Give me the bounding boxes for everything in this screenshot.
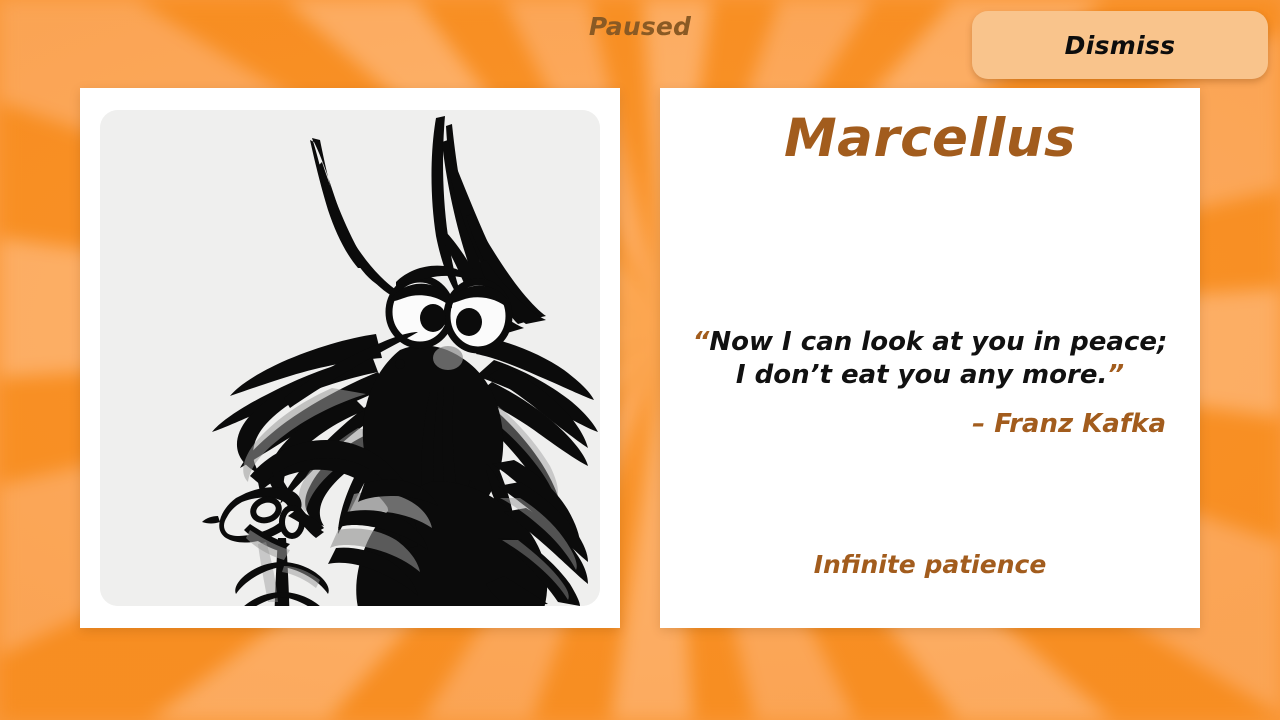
quote-text: “Now I can look at you in peace; I don’t… xyxy=(684,326,1176,391)
close-quote-mark: ” xyxy=(1107,360,1124,390)
quote-line-1: Now I can look at you in peace; xyxy=(709,327,1167,357)
quote-block: “Now I can look at you in peace; I don’t… xyxy=(684,326,1176,439)
creature-trait-label: Infinite patience xyxy=(660,550,1200,579)
quote-attribution: – Franz Kafka xyxy=(684,409,1176,439)
creature-artwork xyxy=(100,110,600,606)
open-quote-mark: “ xyxy=(693,327,710,357)
ink-brush-cat-icon xyxy=(100,110,600,606)
creature-info-card: Marcellus “Now I can look at you in peac… xyxy=(660,88,1200,628)
pause-overlay-screen: Paused Dismiss xyxy=(0,0,1280,720)
creature-image-card xyxy=(80,88,620,628)
dismiss-button[interactable]: Dismiss xyxy=(972,11,1268,79)
quote-line-2: I don’t eat you any more. xyxy=(736,360,1107,390)
creature-name-heading: Marcellus xyxy=(660,108,1200,169)
